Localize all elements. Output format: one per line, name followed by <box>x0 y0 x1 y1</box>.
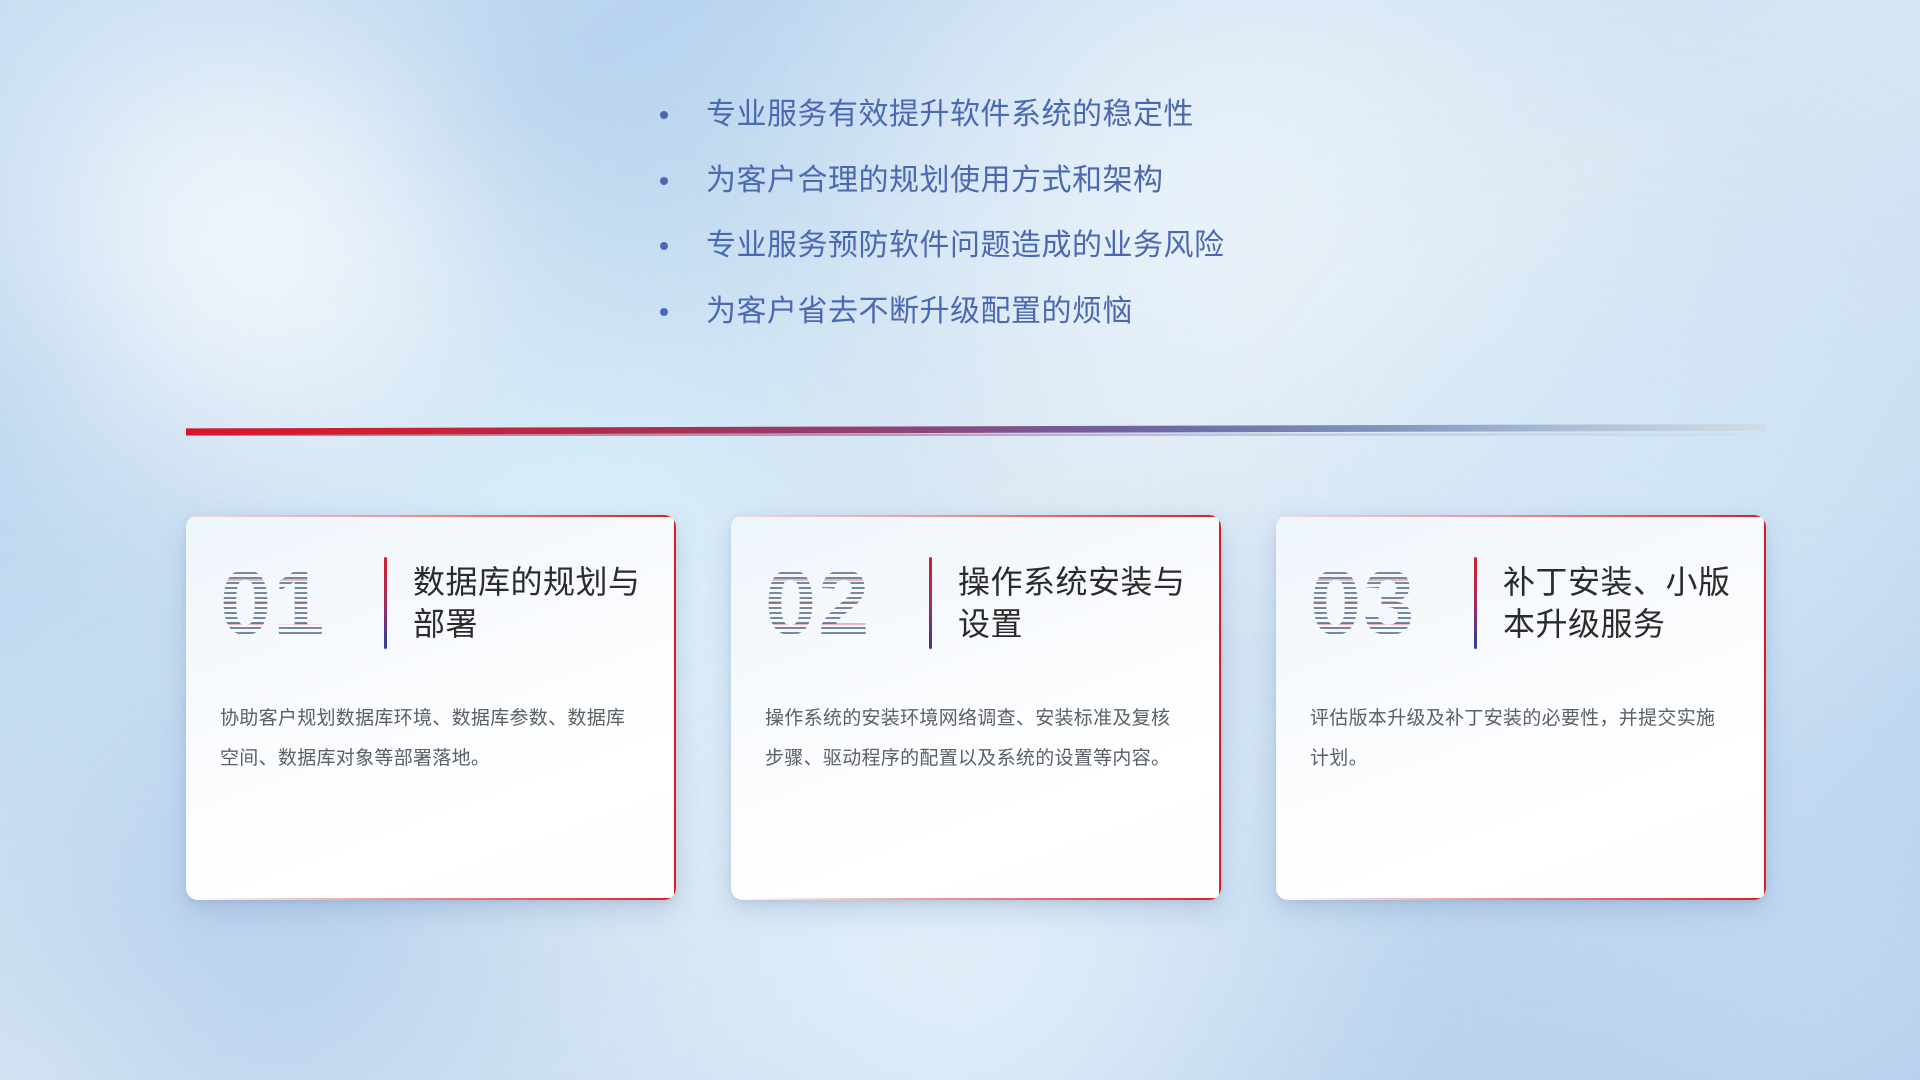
bullet-dot-icon <box>660 177 668 185</box>
card-number: 02 <box>765 557 925 649</box>
bullet-dot-icon <box>660 242 668 250</box>
card-body-text: 评估版本升级及补丁安装的必要性，并提交实施计划。 <box>1276 655 1766 779</box>
list-item-label: 为客户省去不断升级配置的烦恼 <box>706 293 1133 331</box>
card-divider-bar <box>929 557 932 649</box>
list-item: 专业服务有效提升软件系统的稳定性 <box>660 96 1480 134</box>
card-title: 操作系统安装与设置 <box>958 561 1191 645</box>
card-header: 03 补丁安装、小版本升级服务 <box>1276 515 1766 655</box>
card-header: 02 操作系统安装与设置 <box>731 515 1221 655</box>
card-divider-bar <box>384 557 387 649</box>
card-number: 01 <box>220 557 380 649</box>
card-header: 01 数据库的规划与部署 <box>186 515 676 655</box>
list-item-label: 专业服务预防软件问题造成的业务风险 <box>706 227 1225 265</box>
card-accent-bottom <box>186 898 676 900</box>
benefits-list: 专业服务有效提升软件系统的稳定性 为客户合理的规划使用方式和架构 专业服务预防软… <box>660 96 1480 330</box>
list-item-label: 为客户合理的规划使用方式和架构 <box>706 162 1164 200</box>
service-card-03[interactable]: 03 补丁安装、小版本升级服务 评估版本升级及补丁安装的必要性，并提交实施计划。 <box>1276 515 1766 900</box>
list-item: 为客户省去不断升级配置的烦恼 <box>660 293 1480 331</box>
card-accent-bottom <box>731 898 1221 900</box>
card-number: 03 <box>1310 557 1470 649</box>
card-divider-bar <box>1474 557 1477 649</box>
service-cards: 01 数据库的规划与部署 协助客户规划数据库环境、数据库参数、数据库空间、数据库… <box>186 515 1766 900</box>
section-divider <box>186 424 1766 438</box>
service-card-01[interactable]: 01 数据库的规划与部署 协助客户规划数据库环境、数据库参数、数据库空间、数据库… <box>186 515 676 900</box>
list-item: 专业服务预防软件问题造成的业务风险 <box>660 227 1480 265</box>
card-title: 数据库的规划与部署 <box>413 561 646 645</box>
list-item: 为客户合理的规划使用方式和架构 <box>660 162 1480 200</box>
card-accent-bottom <box>1276 898 1766 900</box>
bullet-dot-icon <box>660 111 668 119</box>
bullet-dot-icon <box>660 308 668 316</box>
card-body-text: 协助客户规划数据库环境、数据库参数、数据库空间、数据库对象等部署落地。 <box>186 655 676 779</box>
list-item-label: 专业服务有效提升软件系统的稳定性 <box>706 96 1194 134</box>
card-title: 补丁安装、小版本升级服务 <box>1503 561 1736 645</box>
service-card-02[interactable]: 02 操作系统安装与设置 操作系统的安装环境网络调查、安装标准及复核步骤、驱动程… <box>731 515 1221 900</box>
card-body-text: 操作系统的安装环境网络调查、安装标准及复核步骤、驱动程序的配置以及系统的设置等内… <box>731 655 1221 779</box>
slide-content: 专业服务有效提升软件系统的稳定性 为客户合理的规划使用方式和架构 专业服务预防软… <box>0 0 1920 1080</box>
